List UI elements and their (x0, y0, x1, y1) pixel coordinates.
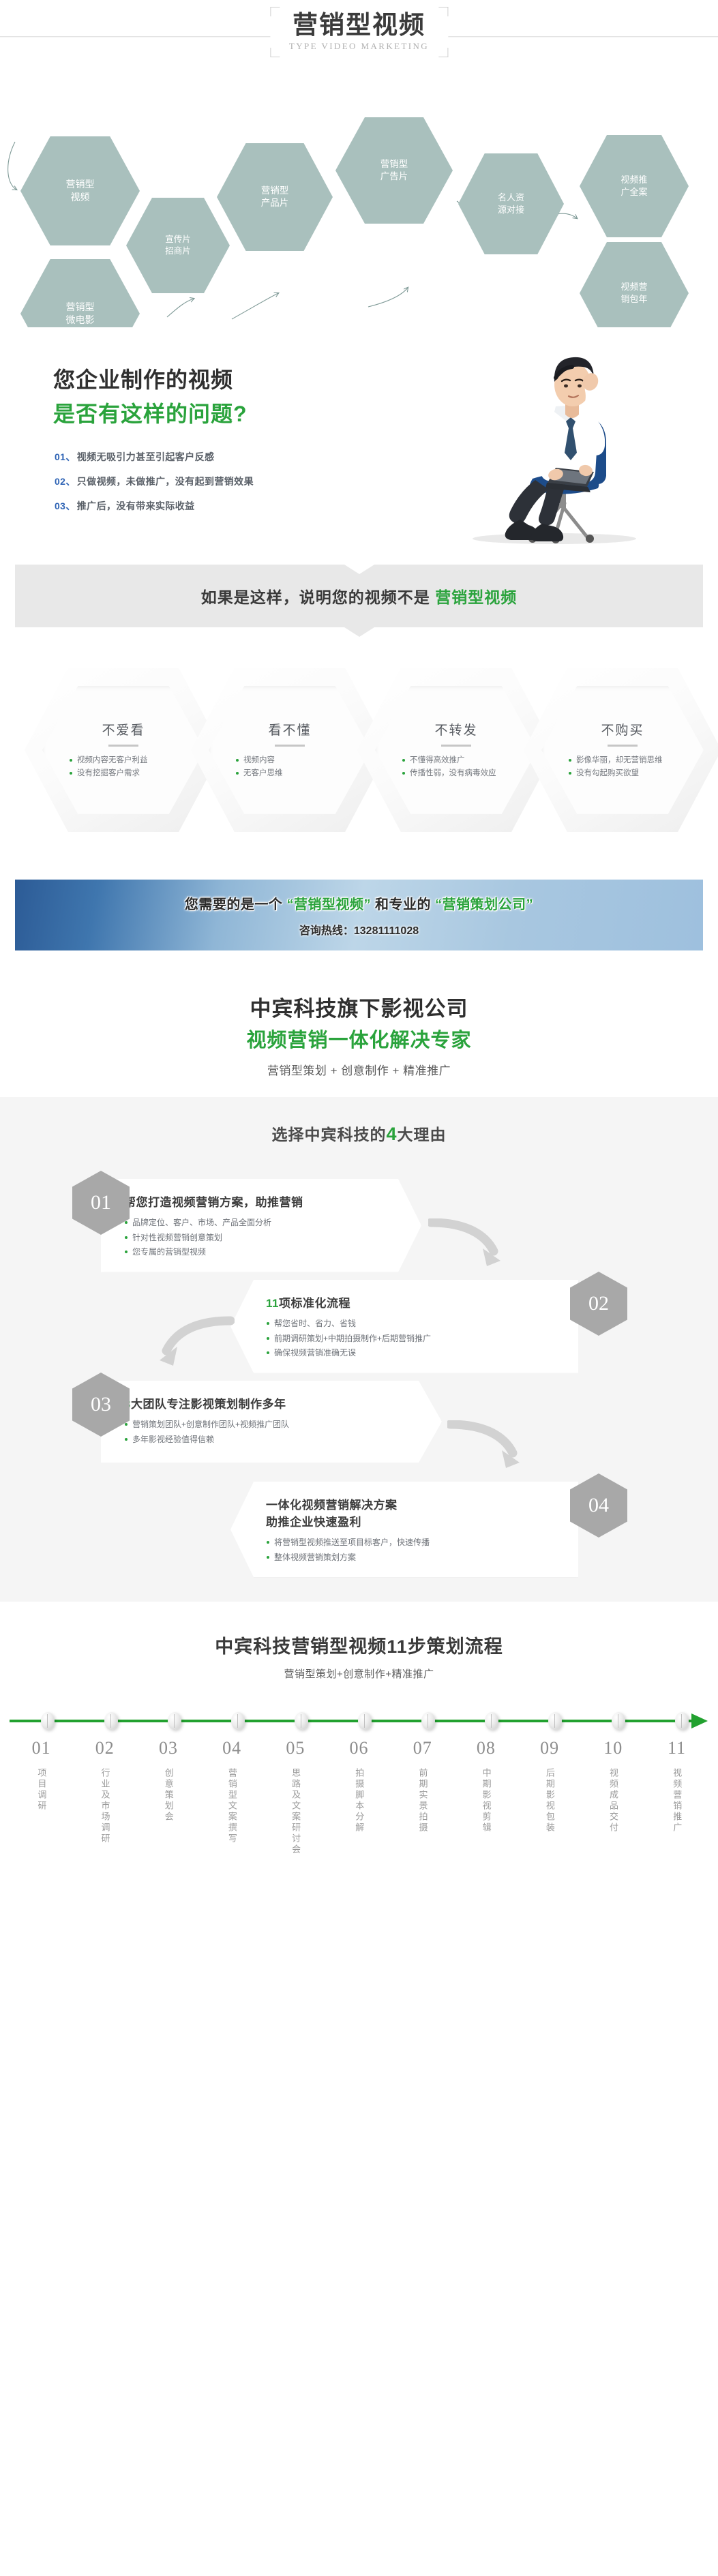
hex-card-2-bullets: 视频内容 无客户思维 (235, 754, 344, 780)
hex-service-2-line2: 招商片 (165, 246, 191, 256)
hex-service-5-line1: 营销型 (380, 159, 408, 169)
reasons-heading-number: 4 (386, 1124, 397, 1144)
corner-bracket-bottom-right-icon (438, 48, 448, 57)
blue-cta-banner: 您需要的是一个 “营销型视频” 和专业的 “营销策划公司” 咨询热线：13281… (15, 880, 703, 950)
reason-row-3: 03 3大团队专注影视策划制作多年 营销策划团队+创意制作团队+视频推广团队 多… (0, 1370, 718, 1471)
company-tagline: 视频营销一体化解决专家 (0, 1024, 718, 1053)
reason-card-04-title-line2: 助推企业快速盈利 (266, 1516, 361, 1529)
banner-bottom-notch-icon (344, 627, 374, 637)
flow-step[interactable]: 08 中期影视剪辑 (454, 1738, 518, 1859)
corner-bracket-top-left-icon (270, 7, 280, 16)
flow-node (104, 1712, 118, 1730)
problem-heading-line1: 您企业制作的视频 (53, 363, 248, 394)
hex-service-4-line2: 产品片 (261, 198, 289, 208)
hex-service-8-line2: 销包年 (620, 294, 647, 304)
company-title: 中宾科技旗下影视公司 (0, 991, 718, 1022)
hex-service-6-line2: 源对接 (498, 205, 524, 215)
flow-step-number: 01 (10, 1738, 73, 1758)
flow-node (421, 1712, 435, 1730)
hex-card-2-divider (275, 745, 305, 747)
reason-card-04-bullet: 整体视频营销策划方案 (266, 1551, 560, 1566)
marketing-landing-page: 营销型视频 TYPE VIDEO MARKETING (0, 0, 718, 1879)
problem-list: 01、视频无吸引力甚至引起客户反感 02、只做视频，未做推广，没有起到营销效果 … (55, 450, 254, 524)
hex-card-1-bullets: 视频内容无客户利益 没有挖掘客户需求 (69, 754, 178, 780)
reason-card-04-title: 一体化视频营销解决方案 助推企业快速盈利 (266, 1495, 560, 1529)
reason-row-2: 02 11项标准化流程 帮您省时、省力、省钱 前期调研策划+中期拍摄制作+后期营… (0, 1269, 718, 1370)
hex-service-7[interactable]: 视频推 广全案 (580, 135, 689, 237)
reason-card-02[interactable]: 11项标准化流程 帮您省时、省力、省钱 前期调研策划+中期拍摄制作+后期营销推广… (230, 1280, 578, 1373)
problem-item-2-text: 只做视频，未做推广，没有起到营销效果 (77, 476, 254, 487)
flow-step-number: 08 (454, 1738, 518, 1758)
hex-card-4[interactable]: 不购买 影像华丽，却无营销思维 没有勾起购买欲望 (524, 668, 718, 832)
businessman-photo (452, 334, 677, 545)
reason-card-01-bullet: 针对性视频营销创意策划 (124, 1231, 386, 1246)
problem-item: 02、只做视频，未做推广，没有起到营销效果 (55, 475, 254, 488)
hex-service-7-line2: 广全案 (620, 187, 647, 197)
banner-top-notch-icon (344, 565, 374, 574)
reason-card-04-bullets: 将营销型视频推送至项目标客户，快速传播 整体视频营销策划方案 (266, 1536, 560, 1565)
hex-card-3-bullet: 传播性弱，没有病毒效应 (402, 767, 511, 780)
problem-item-2-number: 02、 (55, 476, 76, 487)
hex-card-4-bullets: 影像华丽，却无营销思维 没有勾起购买欲望 (568, 754, 677, 780)
flow-step[interactable]: 11 视频营销推广 (645, 1738, 708, 1859)
flow-step-label: 视频营销推广 (670, 1768, 684, 1833)
hex-card-1-title: 不爱看 (102, 720, 145, 738)
blue-cta-section: 您需要的是一个 “营销型视频” 和专业的 “营销策划公司” 咨询热线：13281… (0, 865, 718, 967)
flow-step-number: 03 (136, 1738, 200, 1758)
page-subtitle: TYPE VIDEO MARKETING (289, 41, 429, 52)
hex-card-1-bullet: 视频内容无客户利益 (69, 754, 178, 767)
flow-step-number: 07 (391, 1738, 454, 1758)
hex-service-3-line1: 营销型 (66, 301, 95, 312)
flow-step-number: 10 (582, 1738, 645, 1758)
corner-bracket-top-right-icon (438, 7, 448, 16)
flow-step-label: 视频成品交付 (606, 1768, 620, 1833)
reason-card-01-bullet: 品牌定位、客户、市场、产品全面分析 (124, 1216, 386, 1231)
problem-section: 您企业制作的视频 是否有这样的问题? 01、视频无吸引力甚至引起客户反感 02、… (0, 327, 718, 552)
blue-cta-part2: 和专业的 (371, 897, 435, 912)
flow-step[interactable]: 04 营销型文案撰写 (200, 1738, 264, 1859)
flow-heading-number: 11 (387, 1636, 408, 1657)
video-problem-hex-cards: 不爱看 视频内容无客户利益 没有挖掘客户需求 看不懂 视频内容 无客户思维 (0, 640, 718, 865)
flow-step[interactable]: 05 思路及文案研讨会 (264, 1738, 327, 1859)
hex-card-1-bullet: 没有挖掘客户需求 (69, 767, 178, 780)
hex-service-7-line1: 视频推 (620, 175, 647, 185)
reason-card-03[interactable]: 3大团队专注影视策划制作多年 营销策划团队+创意制作团队+视频推广团队 多年影视… (101, 1381, 442, 1463)
flow-step-label: 行业及市场调研 (98, 1768, 112, 1844)
reason-card-01[interactable]: 帮您打造视频营销方案，助推营销 品牌定位、客户、市场、产品全面分析 针对性视频营… (101, 1179, 421, 1272)
company-services: 营销型策划 + 创意制作 + 精准推广 (0, 1061, 718, 1078)
problem-item-1-number: 01、 (55, 451, 76, 462)
flow-node (675, 1712, 689, 1730)
hex-card-2-bullet: 无客户思维 (235, 767, 344, 780)
process-flow-section: 中宾科技营销型视频11步策划流程 营销型策划+创意制作+精准推广 01 项目调研 (0, 1602, 718, 1879)
company-intro-section: 中宾科技旗下影视公司 视频营销一体化解决专家 营销型策划 + 创意制作 + 精准… (0, 967, 718, 1097)
page-header: 营销型视频 TYPE VIDEO MARKETING (0, 0, 718, 102)
flow-step-number: 04 (200, 1738, 264, 1758)
reasons-heading-prefix: 选择中宾科技的 (271, 1126, 386, 1143)
hex-service-2[interactable]: 宣传片 招商片 (126, 198, 230, 293)
grey-banner-highlight: 营销型视频 (435, 588, 517, 606)
flow-step-number: 09 (518, 1738, 582, 1758)
flow-timeline-arrowhead-icon (691, 1713, 708, 1728)
hex-service-6-line1: 名人资 (498, 192, 524, 203)
reason-card-02-title: 11项标准化流程 (266, 1293, 560, 1311)
reason-flow-arrow-3-icon (447, 1420, 529, 1476)
grey-banner-section: 如果是这样，说明您的视频不是 营销型视频 (0, 552, 718, 640)
reason-card-03-bullet: 多年影视经验值得信赖 (124, 1433, 406, 1448)
reason-card-04-title-line1: 一体化视频营销解决方案 (266, 1499, 398, 1512)
reason-card-02-bullet: 确保视频营销准确无误 (266, 1346, 560, 1361)
hex-service-1-line1: 营销型 (66, 179, 95, 190)
reason-flow-arrow-2-icon (150, 1314, 235, 1371)
hex-card-3-bullets: 不懂得高效推广 传播性弱，没有病毒效应 (402, 754, 511, 780)
flow-step-label: 后期影视包装 (542, 1768, 556, 1833)
reason-card-03-bullets: 营销策划团队+创意制作团队+视频推广团队 多年影视经验值得信赖 (124, 1418, 406, 1447)
hex-card-4-bullet: 影像华丽，却无营销思维 (568, 754, 677, 767)
hex-service-8-line1: 视频营 (620, 282, 647, 292)
reason-card-01-title: 帮您打造视频营销方案，助推营销 (124, 1193, 386, 1210)
hex-service-6[interactable]: 名人资 源对接 (458, 153, 564, 254)
grey-banner-prefix: 如果是这样，说明您的视频不是 (201, 588, 435, 606)
reason-card-02-title-number: 11 (266, 1297, 279, 1310)
flow-step[interactable]: 07 前期实景拍摄 (391, 1738, 454, 1859)
hex-service-1-line2: 视频 (71, 192, 90, 203)
reason-card-02-bullet: 帮您省时、省力、省钱 (266, 1317, 560, 1332)
flow-node (485, 1712, 498, 1730)
hex-card-3-divider (441, 745, 471, 747)
reason-card-01-bullet: 您专属的营销型视频 (124, 1245, 386, 1260)
hex-service-1[interactable]: 营销型 视频 (20, 136, 140, 245)
hex-card-2-bullet: 视频内容 (235, 754, 344, 767)
hex-card-3-title: 不转发 (434, 720, 477, 738)
page-title: 营销型视频 (289, 11, 429, 40)
hex-service-4[interactable]: 营销型 产品片 (217, 143, 333, 251)
flow-node (612, 1712, 625, 1730)
flow-step[interactable]: 02 行业及市场调研 (73, 1738, 136, 1859)
hex-service-5-line2: 广告片 (380, 171, 408, 181)
flow-step-number: 06 (327, 1738, 391, 1758)
flow-step-number: 02 (73, 1738, 136, 1758)
reason-card-03-title: 3大团队专注影视策划制作多年 (124, 1394, 406, 1411)
blue-cta-headline: 您需要的是一个 “营销型视频” 和专业的 “营销策划公司” (185, 893, 533, 913)
reason-card-02-bullet: 前期调研策划+中期拍摄制作+后期营销推广 (266, 1332, 560, 1347)
flow-subheading: 营销型策划+创意制作+精准推广 (0, 1666, 718, 1681)
reason-flow-arrow-1-icon (428, 1218, 510, 1273)
flow-step-label: 前期实景拍摄 (415, 1768, 430, 1833)
hex-service-3-line2: 微电影 (66, 314, 95, 325)
flow-node (548, 1712, 562, 1730)
flow-node (168, 1712, 181, 1730)
flow-step[interactable]: 01 项目调研 (10, 1738, 73, 1859)
hex-service-4-line1: 营销型 (261, 185, 289, 196)
hex-card-4-title: 不购买 (601, 720, 644, 738)
reason-row-4: 04 一体化视频营销解决方案 助推企业快速盈利 将营销型视频推送至项目标客户，快… (0, 1471, 718, 1572)
problem-item-1-text: 视频无吸引力甚至引起客户反感 (77, 451, 215, 462)
flow-step-label: 中期影视剪辑 (479, 1768, 493, 1833)
reason-badge-02: 02 (570, 1272, 627, 1336)
flow-heading-suffix: 步策划流程 (408, 1636, 503, 1657)
reasons-section: 选择中宾科技的4大理由 01 帮您打造视频营销方案，助推营销 品牌定位、客户、市… (0, 1097, 718, 1602)
flow-step[interactable]: 03 创意策划会 (136, 1738, 200, 1859)
reason-card-01-title-text: 帮您打造视频营销方案，助推营销 (124, 1196, 303, 1209)
flow-step-label: 项目调研 (34, 1768, 48, 1812)
hex-card-1-divider (108, 745, 138, 747)
flow-node (295, 1712, 308, 1730)
problem-heading-line2: 是否有这样的问题? (53, 397, 248, 428)
reason-card-04[interactable]: 一体化视频营销解决方案 助推企业快速盈利 将营销型视频推送至项目标客户，快速传播… (230, 1482, 578, 1577)
flow-step-label: 营销型文案撰写 (224, 1768, 239, 1844)
hotline-text[interactable]: 咨询热线：13281111028 (299, 921, 419, 938)
flow-node (358, 1712, 372, 1730)
reasons-heading: 选择中宾科技的4大理由 (0, 1122, 718, 1145)
reason-card-04-bullet: 将营销型视频推送至项目标客户，快速传播 (266, 1536, 560, 1551)
flow-node (41, 1712, 55, 1730)
reason-row-1: 01 帮您打造视频营销方案，助推营销 品牌定位、客户、市场、产品全面分析 针对性… (0, 1168, 718, 1269)
hex-card-4-bullet: 没有勾起购买欲望 (568, 767, 677, 780)
flow-step-number: 11 (645, 1738, 708, 1758)
hex-card-3-bullet: 不懂得高效推广 (402, 754, 511, 767)
flow-step-label: 思路及文案研讨会 (288, 1768, 303, 1855)
grey-banner: 如果是这样，说明您的视频不是 营销型视频 (15, 565, 703, 627)
flow-step-label: 拍摄脚本分解 (352, 1768, 366, 1833)
flow-heading-prefix: 中宾科技营销型视频 (215, 1636, 387, 1657)
flow-step-number: 05 (264, 1738, 327, 1758)
service-hex-map: 营销型 视频 宣传片 招商片 营销型 微电影 营销型 产品片 (0, 102, 718, 327)
corner-bracket-bottom-left-icon (270, 48, 280, 57)
flow-node (231, 1712, 245, 1730)
reason-card-02-title-text: 项标准化流程 (279, 1297, 350, 1310)
reason-card-03-title-text: 大团队专注影视策划制作多年 (131, 1398, 286, 1411)
grey-banner-text: 如果是这样，说明您的视频不是 营销型视频 (201, 584, 517, 608)
problem-heading: 您企业制作的视频 是否有这样的问题? (53, 363, 248, 428)
hex-card-4-divider (608, 745, 638, 747)
flow-heading: 中宾科技营销型视频11步策划流程 (0, 1632, 718, 1658)
blue-cta-part1: 您需要的是一个 (185, 897, 287, 912)
hex-service-5[interactable]: 营销型 广告片 (335, 117, 453, 224)
flow-step-columns: 01 项目调研 02 行业及市场调研 03 创意策划会 04 营销型文案撰写 0… (10, 1738, 708, 1859)
reason-card-02-bullets: 帮您省时、省力、省钱 前期调研策划+中期拍摄制作+后期营销推广 确保视频营销准确… (266, 1317, 560, 1361)
flow-step[interactable]: 10 视频成品交付 (582, 1738, 645, 1859)
reason-card-01-bullets: 品牌定位、客户、市场、产品全面分析 针对性视频营销创意策划 您专属的营销型视频 (124, 1216, 386, 1260)
page-title-box: 营销型视频 TYPE VIDEO MARKETING (270, 7, 448, 57)
reason-badge-04: 04 (570, 1473, 627, 1538)
flow-timeline-track (10, 1712, 708, 1730)
flow-step[interactable]: 06 拍摄脚本分解 (327, 1738, 391, 1859)
hex-card-2-title: 看不懂 (268, 720, 311, 738)
problem-item-3-text: 推广后，没有带来实际收益 (77, 500, 195, 511)
flow-step-label: 创意策划会 (161, 1768, 175, 1823)
problem-item: 03、推广后，没有带来实际收益 (55, 499, 254, 513)
flow-step[interactable]: 09 后期影视包装 (518, 1738, 582, 1859)
reasons-heading-suffix: 大理由 (398, 1126, 447, 1143)
problem-item: 01、视频无吸引力甚至引起客户反感 (55, 450, 254, 464)
blue-cta-highlight-2: “营销策划公司” (435, 897, 533, 912)
problem-item-3-number: 03、 (55, 500, 76, 511)
reason-card-03-bullet: 营销策划团队+创意制作团队+视频推广团队 (124, 1418, 406, 1433)
hex-service-2-line1: 宣传片 (165, 235, 191, 244)
blue-cta-highlight-1: “营销型视频” (286, 897, 371, 912)
